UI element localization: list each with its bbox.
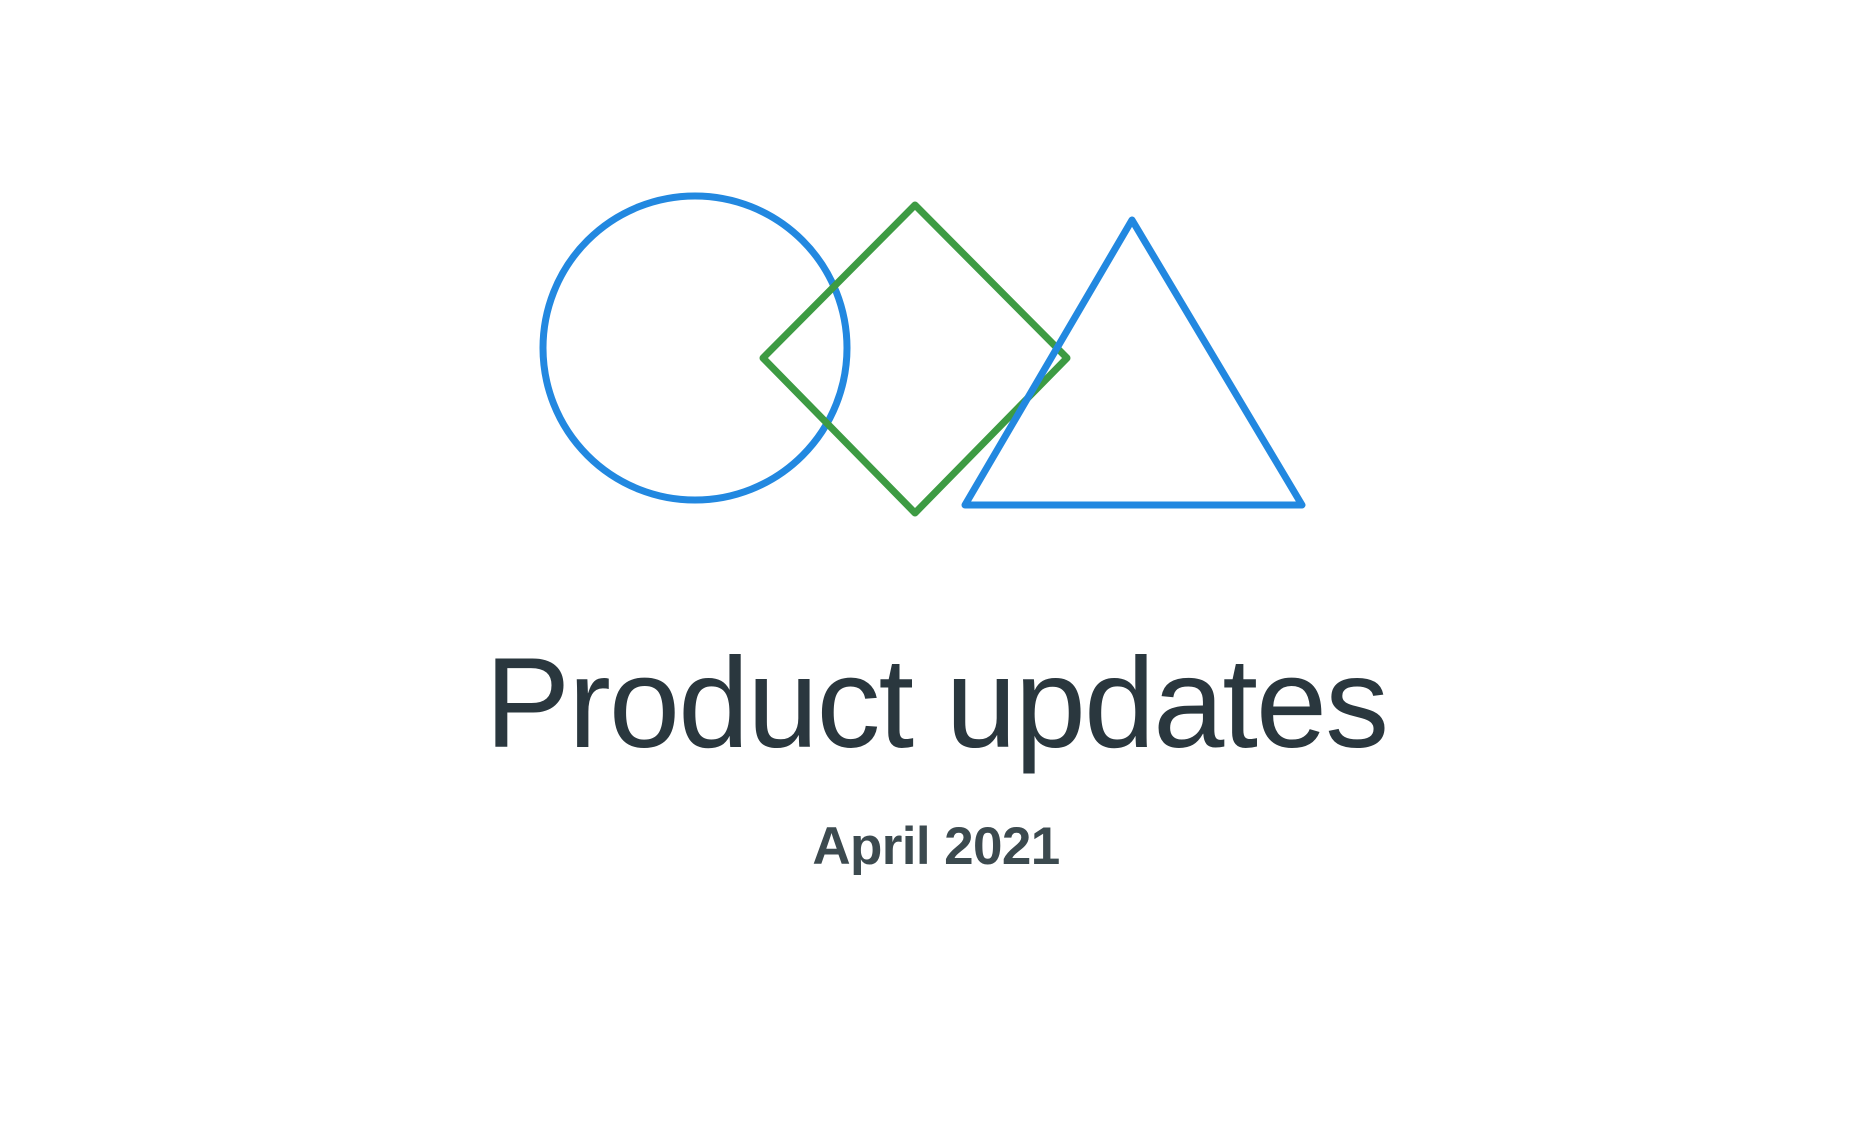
headline-block: Product updates April 2021 [0,640,1872,873]
circle-outline [543,196,847,500]
page-title: Product updates [0,640,1872,768]
page-subtitle-date: April 2021 [0,768,1872,873]
slide-canvas: Product updates April 2021 [0,0,1872,1142]
three-shapes-logo [0,0,1872,620]
triangle-outline [965,220,1302,505]
diamond-outline [763,205,1067,513]
